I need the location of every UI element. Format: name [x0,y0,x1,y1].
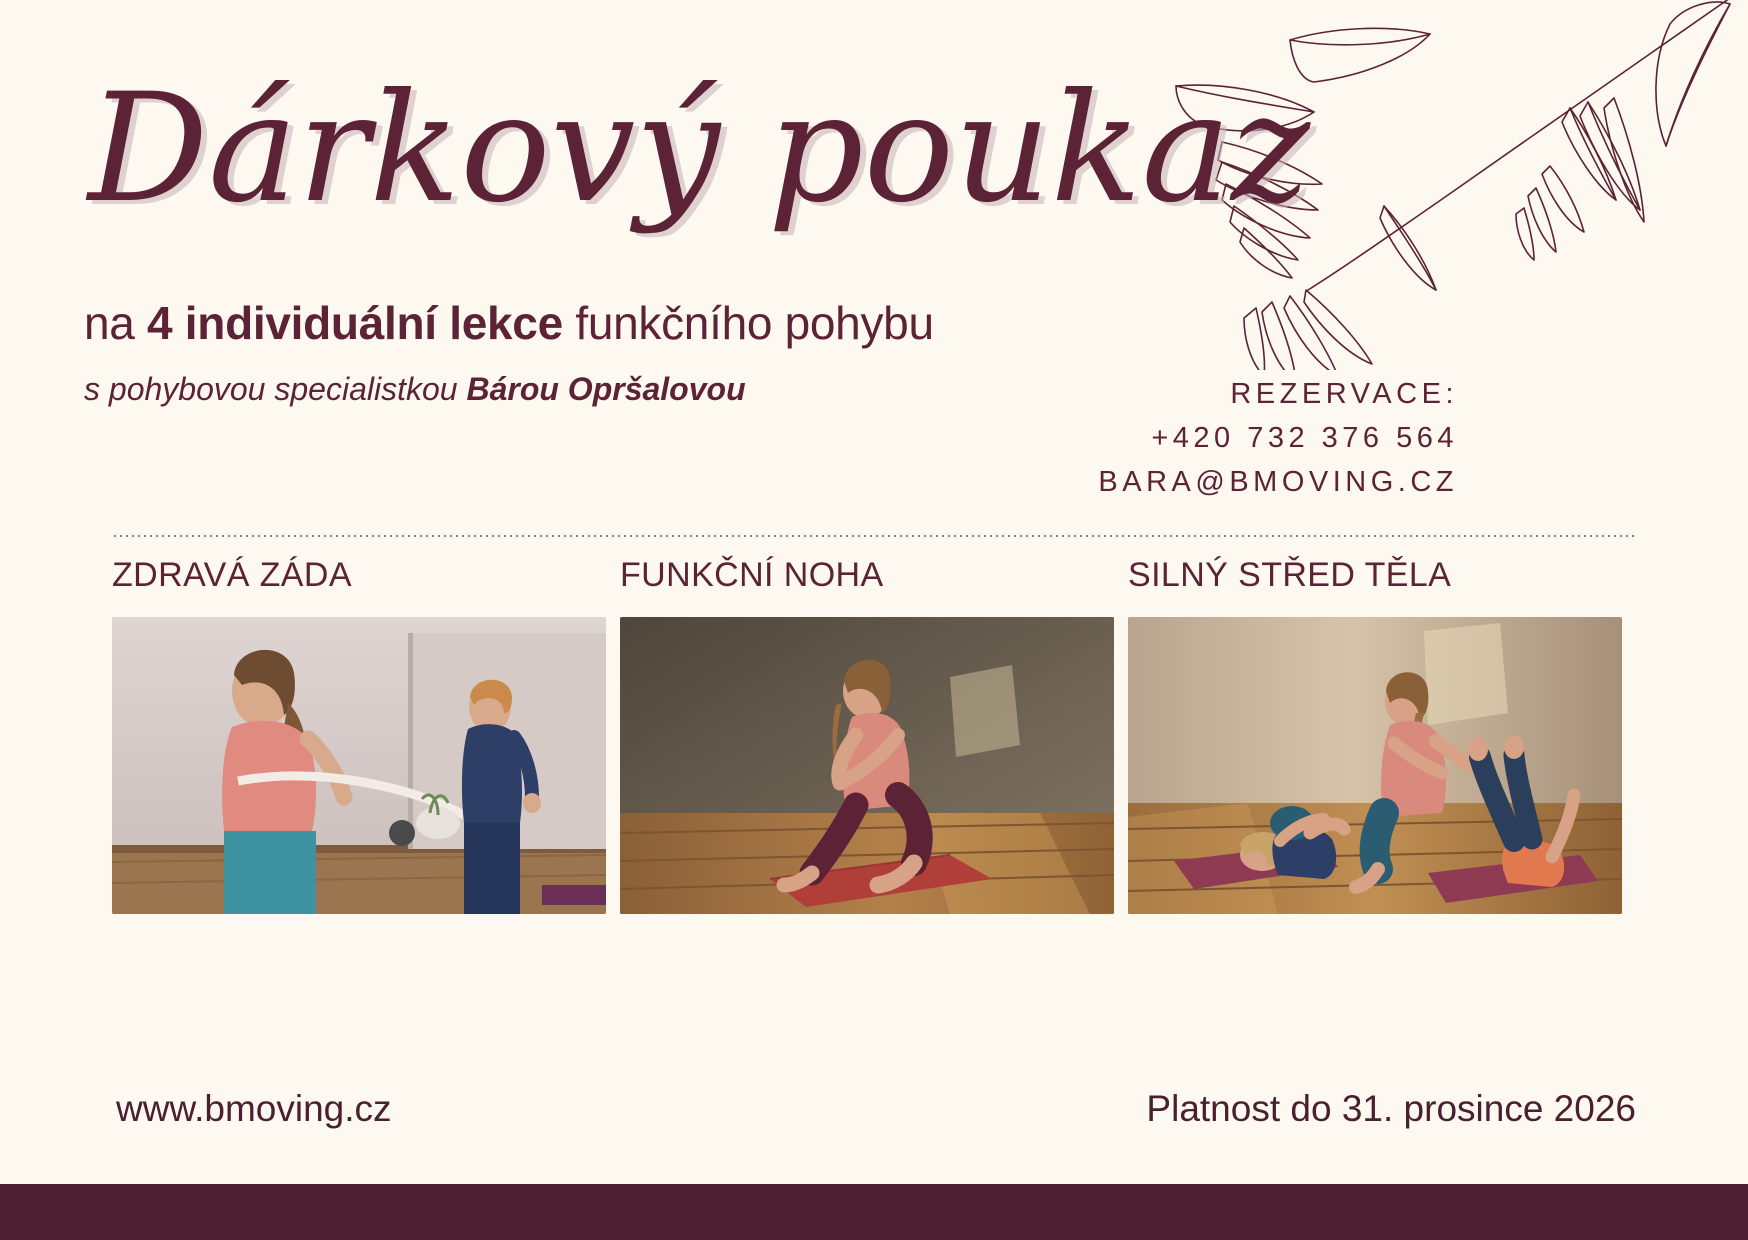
specialist-line: s pohybovou specialistkou Bárou Opršalov… [84,371,746,408]
card-title: FUNKČNÍ NOHA [620,556,1114,595]
contact-phone[interactable]: +420 732 376 564 [1098,416,1458,460]
card-photo-funkcni-noha [620,617,1114,914]
voucher-title-text: Dárkový poukaz [85,62,1311,236]
contact-block: REZERVACE: +420 732 376 564 BARA@BMOVING… [1098,372,1458,504]
card-title: ZDRAVÁ ZÁDA [112,556,606,595]
specialist-name: Bárou Opršalovou [466,371,745,407]
bottom-accent-bar [0,1184,1748,1240]
card-photo-silny-stred-tela [1128,617,1622,914]
subtitle-highlight: 4 individuální lekce [147,297,563,349]
voucher-title: Dárkový poukaz Dárkový poukaz [78,46,1158,266]
footer-validity: Platnost do 31. prosince 2026 [1146,1088,1636,1130]
card-zdrava-zada: ZDRAVÁ ZÁDA [112,556,606,914]
dotted-divider [112,535,1636,537]
subtitle-suffix: funkčního pohybu [563,297,934,349]
footer-website[interactable]: www.bmoving.cz [116,1088,392,1130]
voucher-subtitle: na 4 individuální lekce funkčního pohybu [84,296,934,350]
reservation-label: REZERVACE: [1098,372,1458,416]
subtitle-prefix: na [84,297,147,349]
card-photo-zdrava-zada [112,617,606,914]
card-silny-stred-tela: SILNÝ STŘED TĚLA [1128,556,1622,914]
specialist-prefix: s pohybovou specialistkou [84,371,466,407]
card-title: SILNÝ STŘED TĚLA [1128,556,1622,595]
gift-voucher: Dárkový poukaz Dárkový poukaz na 4 indiv… [0,0,1748,1240]
category-cards: ZDRAVÁ ZÁDA [112,556,1636,914]
card-funkcni-noha: FUNKČNÍ NOHA [620,556,1114,914]
contact-email[interactable]: BARA@BMOVING.CZ [1098,460,1458,504]
